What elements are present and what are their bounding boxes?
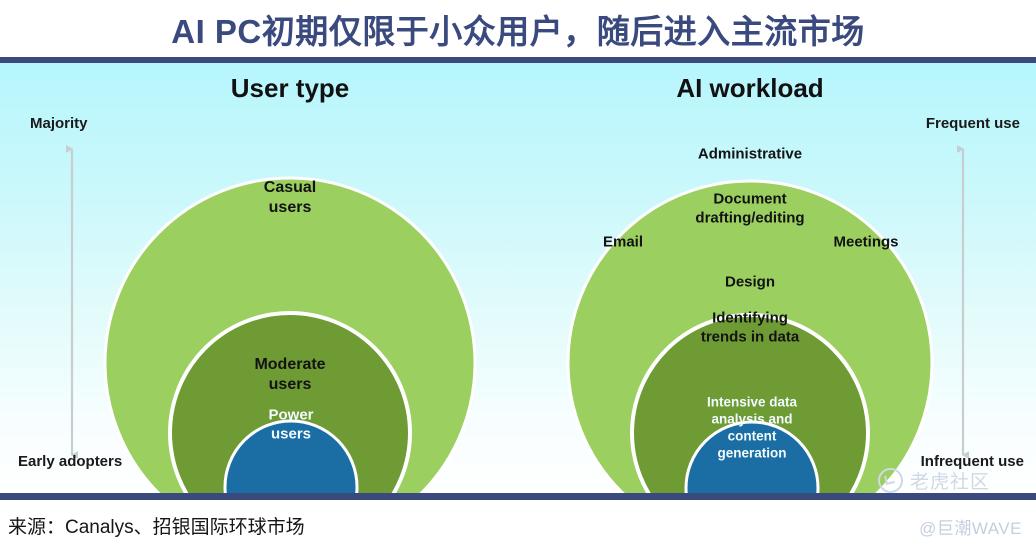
panel-heading-ai-workload: AI workload (676, 73, 823, 104)
axis-caption-early-adopters: Early adopters (18, 453, 122, 470)
slide-title-band: AI PC初期仅限于小众用户，随后进入主流市场 (0, 0, 1036, 57)
axis-caption-infrequent-use: Infrequent use (921, 453, 1024, 470)
panel-heading-user-type: User type (231, 73, 350, 104)
panel-user-type-circles (105, 178, 475, 493)
watermark-juchao-wave: @巨潮WAVE (919, 514, 1022, 539)
divider-bottom (0, 493, 1036, 500)
diagram-canvas: User type AI workload Majority Early ado… (0, 63, 1036, 493)
concentric-circles-svg (0, 63, 1036, 493)
panel-ai-workload-circles (568, 181, 932, 493)
source-label: 来源：Canalys、招银国际环球市场 (8, 512, 305, 539)
slide-footer: 来源：Canalys、招银国际环球市场 @巨潮WAVE (0, 500, 1036, 548)
axis-caption-frequent-use: Frequent use (926, 115, 1020, 132)
page-title: AI PC初期仅限于小众用户，随后进入主流市场 (171, 5, 865, 53)
axis-caption-majority: Majority (30, 115, 88, 132)
